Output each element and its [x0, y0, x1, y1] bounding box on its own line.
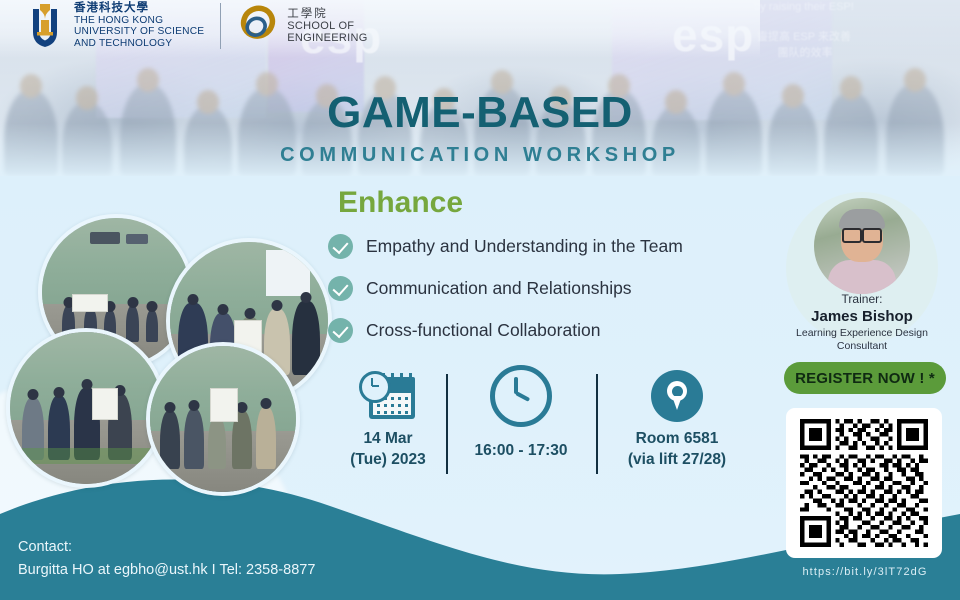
registration-url[interactable]: https://bit.ly/3lT72dG [770, 566, 960, 578]
event-venue-cell: Room 6581 (via lift 27/28) [612, 368, 742, 470]
event-date-line2: (Tue) 2023 [340, 449, 436, 470]
check-circle-icon [328, 276, 353, 301]
calendar-clock-icon-wrap [340, 368, 436, 424]
hkust-logo-text: 香港科技大學 THE HONG KONG UNIVERSITY OF SCIEN… [74, 3, 204, 49]
event-date-cell: 14 Mar (Tue) 2023 [340, 368, 436, 470]
event-time-label: 16:00 - 17:30 [458, 440, 584, 461]
hkust-chinese-name: 香港科技大學 [74, 3, 204, 15]
trainer-info: Trainer: James Bishop Learning Experienc… [786, 292, 938, 353]
avatar [814, 198, 910, 294]
school-of-engineering-swirl-logo-icon [237, 3, 279, 50]
soe-name-line2: ENGINEERING [287, 32, 367, 44]
hkust-name-line1: THE HONG KONG [74, 15, 204, 27]
collage-photo-participants-standing-circle [146, 342, 300, 496]
event-details-row: 14 Mar (Tue) 2023 16:00 - 17:30 Room 658… [340, 368, 742, 474]
trainer-role-label: Trainer: [786, 292, 938, 306]
trainer-desc-line1: Learning Experience Design [786, 327, 938, 340]
clock-icon-wrap [458, 368, 584, 424]
detail-divider-2 [596, 374, 598, 474]
enhance-heading: Enhance [338, 186, 463, 220]
location-pin-icon-wrap [612, 368, 742, 424]
photo-collage [0, 206, 340, 496]
hkust-name-line3: AND TECHNOLOGY [74, 38, 204, 50]
contact-label: Contact: [18, 536, 315, 559]
hkust-name-line2: UNIVERSITY OF SCIENCE [74, 26, 204, 38]
glasses-icon [842, 228, 882, 239]
logo-divider [220, 3, 221, 49]
calendar-clock-icon [359, 371, 417, 421]
soe-name-line1: SCHOOL OF [287, 20, 367, 32]
trainer-card: Trainer: James Bishop Learning Experienc… [786, 192, 938, 344]
event-venue-line1: Room 6581 [612, 428, 742, 449]
trainer-desc-line2: Consultant [786, 340, 938, 353]
poster: esp esp by raising their ESP! 靈提高 ESP 来改… [0, 0, 960, 600]
hkust-shield-logo-icon [24, 2, 66, 50]
list-item: Communication and Relationships [328, 276, 683, 301]
school-of-engineering-logo: 工學院 SCHOOL OF ENGINEERING [237, 3, 367, 50]
poster-subtitle: COMMUNICATION WORKSHOP [0, 144, 960, 167]
list-item-label: Communication and Relationships [366, 278, 632, 299]
logo-row: 香港科技大學 THE HONG KONG UNIVERSITY OF SCIEN… [24, 2, 368, 50]
event-time-cell: 16:00 - 17:30 [458, 368, 584, 461]
qr-code [800, 419, 928, 547]
list-item: Empathy and Understanding in the Team [328, 234, 683, 259]
contact-block: Contact: Burgitta HO at egbho@ust.hk I T… [18, 536, 315, 582]
list-item-label: Cross-functional Collaboration [366, 320, 600, 341]
trainer-name: James Bishop [786, 308, 938, 325]
qr-code-card[interactable] [786, 408, 942, 558]
contact-details: Burgitta HO at egbho@ust.hk I Tel: 2358-… [18, 559, 315, 582]
event-date-line1: 14 Mar [340, 428, 436, 449]
school-of-engineering-text: 工學院 SCHOOL OF ENGINEERING [287, 8, 367, 44]
collage-photo-trainer-speaking-group [6, 328, 166, 488]
list-item-label: Empathy and Understanding in the Team [366, 236, 683, 257]
location-pin-icon [651, 370, 703, 422]
hkust-logo: 香港科技大學 THE HONG KONG UNIVERSITY OF SCIEN… [24, 2, 204, 50]
clock-icon [490, 365, 552, 427]
check-circle-icon [328, 234, 353, 259]
event-venue-line2: (via lift 27/28) [612, 449, 742, 470]
detail-divider-1 [446, 374, 448, 474]
check-circle-icon [328, 318, 353, 343]
soe-chinese-name: 工學院 [287, 8, 367, 20]
benefits-list: Empathy and Understanding in the Team Co… [328, 234, 683, 360]
poster-title-block: GAME-BASED COMMUNICATION WORKSHOP [0, 88, 960, 167]
list-item: Cross-functional Collaboration [328, 318, 683, 343]
poster-title: GAME-BASED [0, 88, 960, 138]
register-now-label: REGISTER NOW ! * [795, 370, 935, 387]
register-now-button[interactable]: REGISTER NOW ! * [784, 362, 946, 394]
